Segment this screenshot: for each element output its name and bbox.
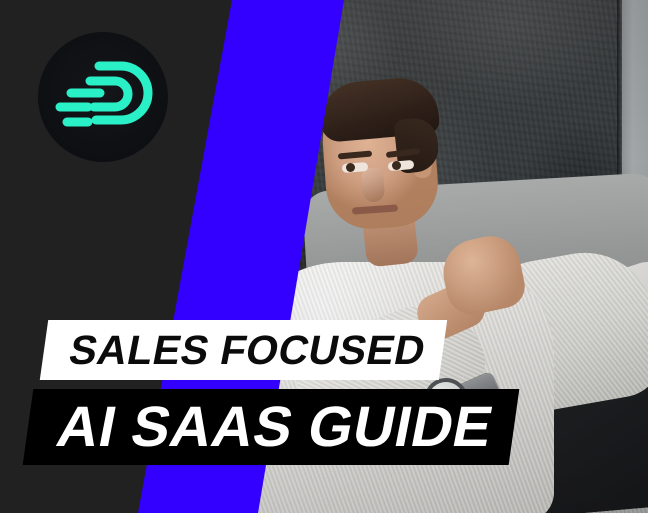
thumbnail-canvas: SALES FOCUSED AI SAAS GUIDE bbox=[0, 0, 648, 513]
pupil-left bbox=[346, 163, 355, 172]
headline-banner-secondary: AI SAAS GUIDE bbox=[23, 389, 520, 465]
pupil-right bbox=[392, 161, 401, 170]
speed-d-logo[interactable] bbox=[38, 32, 168, 162]
headline-line-2: AI SAAS GUIDE bbox=[52, 399, 497, 456]
headline-banner-primary: SALES FOCUSED bbox=[40, 320, 447, 380]
speed-d-logo-mark bbox=[38, 32, 168, 162]
headline-line-1: SALES FOCUSED bbox=[66, 330, 429, 371]
nose bbox=[361, 167, 385, 202]
